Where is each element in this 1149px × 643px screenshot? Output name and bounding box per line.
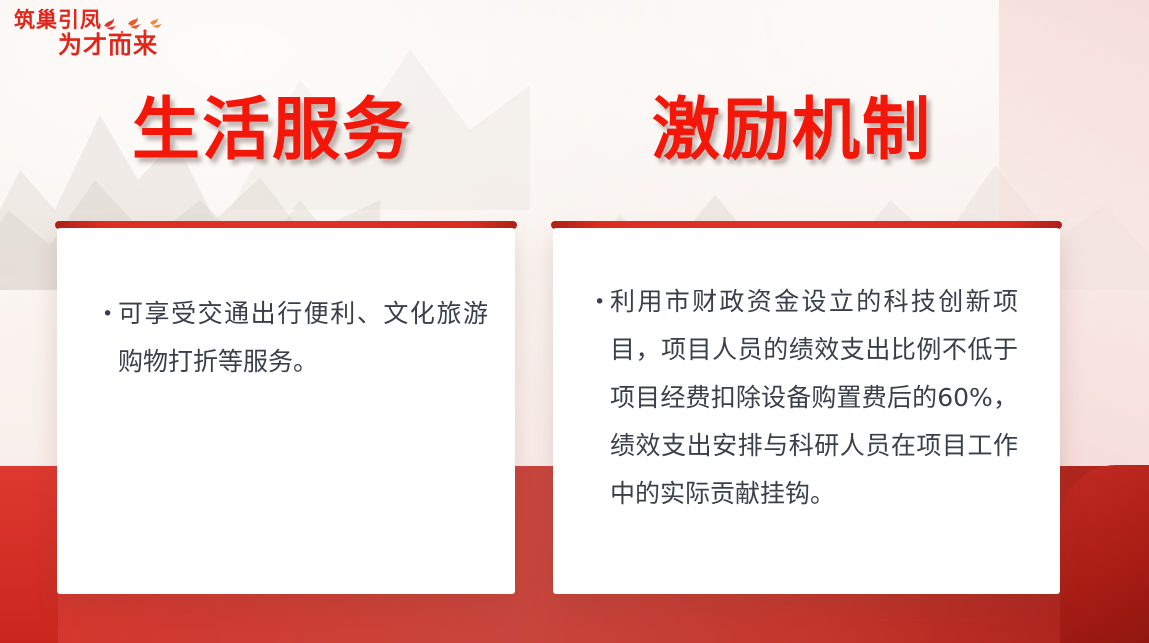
logo-line-1: 筑巢引凤 (14, 8, 102, 32)
content-card-incentive-mechanism: 利用市财政资金设立的科技创新项目，项目人员的绩效支出比例不低于项目经费扣除设备购… (553, 228, 1060, 594)
column-heading-incentive-mechanism: 激励机制 (652, 95, 932, 167)
bullet-list-left: 可享受交通出行便利、文化旅游购物打折等服务。 (118, 290, 488, 386)
card-body-left: 可享受交通出行便利、文化旅游购物打折等服务。 (118, 290, 488, 386)
list-item: 利用市财政资金设立的科技创新项目，项目人员的绩效支出比例不低于项目经费扣除设备购… (610, 278, 1018, 518)
phoenix-birds-icon (100, 14, 172, 36)
left-red-column (0, 466, 58, 643)
bullet-list-right: 利用市财政资金设立的科技创新项目，项目人员的绩效支出比例不低于项目经费扣除设备购… (610, 278, 1018, 518)
list-item: 可享受交通出行便利、文化旅游购物打折等服务。 (118, 290, 488, 386)
slide-canvas: 筑巢引凤 为才而来 生活服务 激励机制 可享受交通出行便利、文化旅游购物打折等服… (0, 0, 1149, 643)
brand-logo: 筑巢引凤 为才而来 (14, 8, 194, 64)
right-red-block (1060, 465, 1149, 643)
logo-line-2: 为才而来 (58, 32, 158, 59)
card-body-right: 利用市财政资金设立的科技创新项目，项目人员的绩效支出比例不低于项目经费扣除设备购… (610, 278, 1018, 518)
column-heading-life-service: 生活服务 (132, 95, 412, 167)
content-card-life-service: 可享受交通出行便利、文化旅游购物打折等服务。 (57, 228, 515, 594)
